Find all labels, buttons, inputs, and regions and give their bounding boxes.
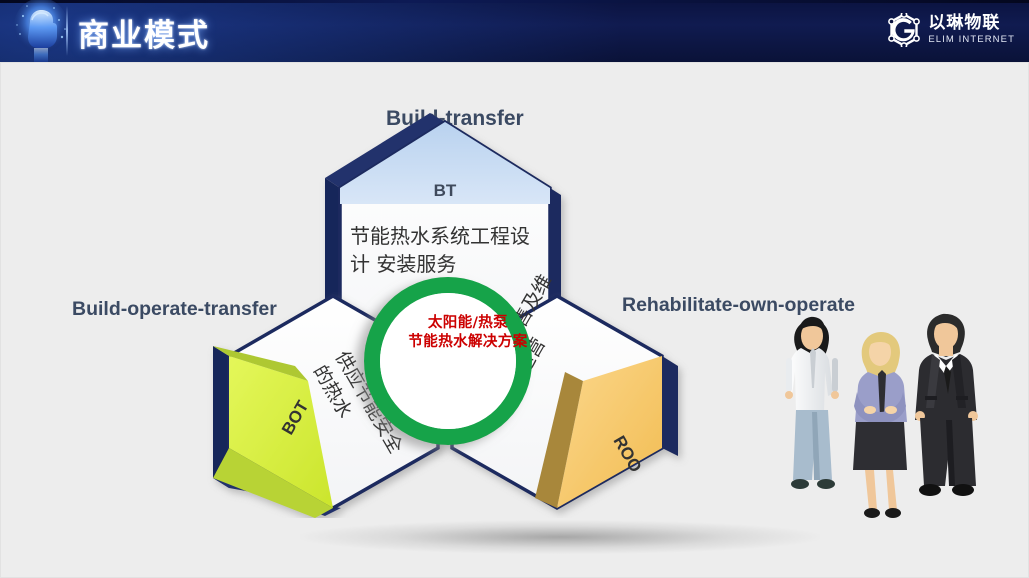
hex-tag-bt: BT — [434, 181, 457, 200]
elim-g-logo-icon — [887, 13, 921, 47]
title-divider — [66, 6, 68, 56]
three-business-people-clipart — [760, 300, 1005, 530]
figure-woman-lavender-jacket — [853, 332, 907, 518]
hex-body-bt-line2: 计 安装服务 — [350, 252, 456, 276]
figure-man-dark-suit — [915, 314, 978, 496]
slide-header: 商业模式 以琳物联 ELIM INTERNET — [0, 0, 1029, 62]
brand-logo: 以琳物联 ELIM INTERNET — [887, 8, 1015, 52]
figure-woman-white-shirt — [785, 317, 839, 489]
logo-name-cn: 以琳物联 — [928, 15, 1015, 32]
hexagon-diagram: BT 节能热水系统工程设 计 安装服务 BOT 供应节能安全 的热水 — [195, 78, 755, 518]
core-solution-text: 太阳能/热泵 节能热水解决方案 — [393, 314, 543, 352]
slide: 商业模式 以琳物联 ELIM INTERNET Build-transfer B… — [0, 0, 1029, 578]
page-title: 商业模式 — [78, 10, 210, 55]
header-accent-line — [0, 0, 1029, 3]
core-line-1: 太阳能/热泵 — [393, 314, 543, 333]
core-line-2: 节能热水解决方案 — [393, 333, 543, 352]
glowing-fist-icon — [10, 0, 72, 62]
hex-body-bt-line1: 节能热水系统工程设 — [350, 224, 530, 248]
logo-name-en: ELIM INTERNET — [928, 35, 1015, 45]
